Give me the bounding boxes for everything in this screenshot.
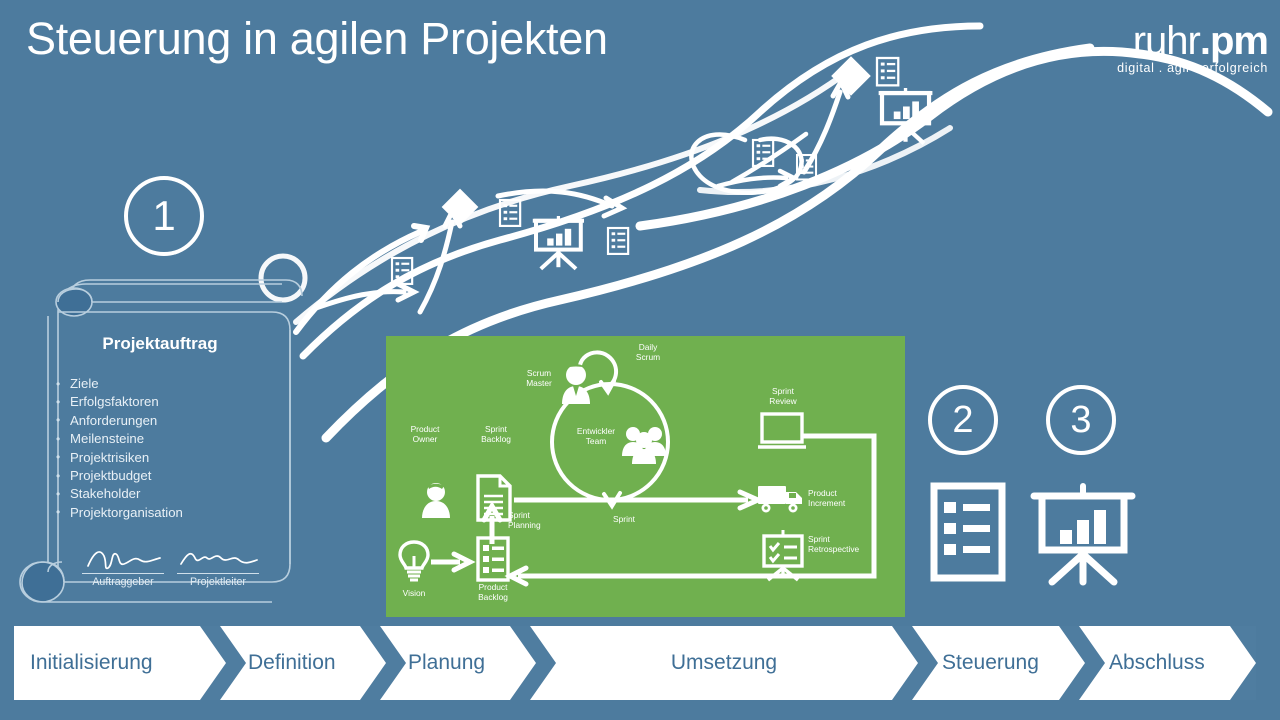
phase-label: Initialisierung <box>30 651 153 675</box>
checklist-icon <box>877 58 898 85</box>
label-sprint-backlog: Sprint Backlog <box>468 424 524 444</box>
logo-dot: . <box>1200 19 1210 63</box>
list-item: Projektbudget <box>56 467 183 485</box>
signature-label: Auftraggeber <box>82 576 164 588</box>
brand-logo: ruhr.pm digital . agil . erfolgreich <box>1117 22 1268 75</box>
phase-label: Definition <box>248 651 336 675</box>
marker-badge-1: 1 <box>124 176 204 256</box>
list-item: Erfolgsfaktoren <box>56 393 183 411</box>
scrum-master-person-icon <box>562 364 590 404</box>
document-title: Projektauftrag <box>14 334 306 354</box>
slide-canvas: Steuerung in agilen Projekten ruhr.pm di… <box>0 0 1280 720</box>
scrum-process-diagram: Product Owner Sprint Backlog Scrum Maste… <box>386 336 905 617</box>
logo-wordmark: ruhr.pm <box>1117 22 1268 60</box>
list-item: Stakeholder <box>56 485 183 503</box>
marker-badge-3: 3 <box>1046 385 1116 455</box>
phase-label: Steuerung <box>942 651 1039 675</box>
marker-badge-2: 2 <box>928 385 998 455</box>
phase-label: Abschluss <box>1109 651 1205 675</box>
list-item: Meilensteine <box>56 430 183 448</box>
marker-label: 3 <box>1070 399 1091 442</box>
logo-tagline: digital . agil . erfolgreich <box>1117 61 1268 75</box>
team-people-icon <box>622 427 666 464</box>
phase-label: Planung <box>408 651 485 675</box>
list-item: Projektrisiken <box>56 449 183 467</box>
laptop-icon <box>758 414 806 447</box>
label-product-owner: Product Owner <box>394 424 456 444</box>
label-entwickler-team: Entwickler Team <box>568 426 624 446</box>
signature-line <box>82 573 164 574</box>
list-item: Anforderungen <box>56 412 183 430</box>
signature-scribble-icon <box>175 546 263 572</box>
list-item: Projektorganisation <box>56 504 183 522</box>
retrospective-board-icon <box>764 530 802 580</box>
document-bullet-list: Ziele Erfolgsfaktoren Anforderungen Meil… <box>56 375 183 522</box>
label-vision: Vision <box>392 588 436 598</box>
document-lines-icon <box>478 476 510 520</box>
scrum-diagram-graphics <box>386 336 905 617</box>
label-sprint-planning: Sprint Planning <box>508 510 558 530</box>
label-sprint-retrospective: Sprint Retrospective <box>808 534 884 554</box>
projektauftrag-document: Projektauftrag Ziele Erfolgsfaktoren Anf… <box>14 272 306 610</box>
signature-line <box>177 573 259 574</box>
slide-title: Steuerung in agilen Projekten <box>26 14 608 64</box>
lightbulb-icon <box>400 542 428 580</box>
label-sprint: Sprint <box>604 514 644 524</box>
marker-label: 1 <box>152 192 175 240</box>
signature-block-auftraggeber: Auftraggeber <box>82 573 164 588</box>
label-product-increment: Product Increment <box>808 488 870 508</box>
person-icon <box>422 483 450 518</box>
signature-scribble-icon <box>80 546 168 572</box>
logo-name-part2: pm <box>1210 19 1268 63</box>
project-phase-bar: Initialisierung Definition Planung Umset… <box>14 626 1256 700</box>
checklist-icon <box>478 538 508 580</box>
phase-chevron-umsetzung[interactable]: Umsetzung <box>530 626 918 700</box>
label-sprint-review: Sprint Review <box>758 386 808 406</box>
signature-block-projektleiter: Projektleiter <box>177 573 259 588</box>
logo-name-part1: ruhr <box>1133 19 1200 63</box>
marker-label: 2 <box>952 399 973 442</box>
phase-label: Umsetzung <box>671 651 777 675</box>
label-daily-scrum: Daily Scrum <box>624 342 672 362</box>
label-product-backlog: Product Backlog <box>466 582 520 602</box>
truck-icon <box>758 486 802 513</box>
checklist-document-icon <box>930 482 1006 582</box>
signature-label: Projektleiter <box>177 576 259 588</box>
checklist-icon <box>608 228 628 254</box>
list-item: Ziele <box>56 375 183 393</box>
phase-chevron-abschluss[interactable]: Abschluss <box>1079 626 1256 700</box>
phase-chevron-initialisierung[interactable]: Initialisierung <box>14 626 226 700</box>
label-scrum-master: Scrum Master <box>518 368 560 388</box>
presentation-barchart-icon <box>1028 482 1138 586</box>
